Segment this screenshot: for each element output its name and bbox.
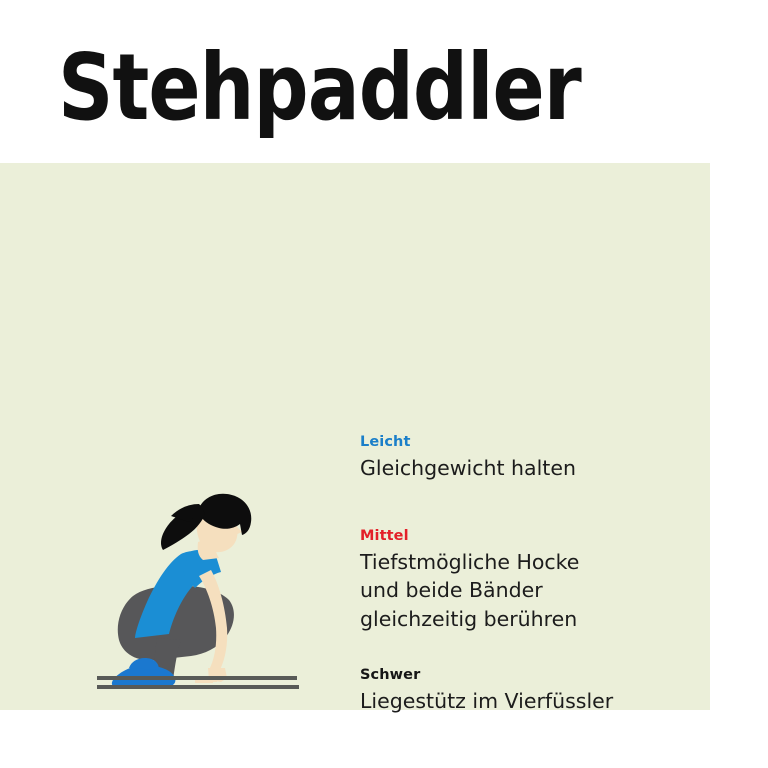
- level-mittel-line-2: und beide Bänder: [360, 576, 660, 605]
- level-mittel-line-1: Tiefstmögliche Hocke: [360, 548, 660, 577]
- level-leicht-label: Leicht: [360, 433, 660, 451]
- level-mittel-description: Tiefstmögliche Hocke und beide Bänder gl…: [360, 548, 660, 634]
- level-mittel-label: Mittel: [360, 527, 660, 545]
- level-schwer-line-1: Liegestütz im Vierfüssler: [360, 687, 660, 716]
- content-panel: Leicht Gleichgewicht halten Mittel Tiefs…: [0, 163, 710, 710]
- level-leicht-line-1: Gleichgewicht halten: [360, 454, 660, 483]
- infographic-page: Stehpaddler: [0, 0, 768, 768]
- level-leicht-description: Gleichgewicht halten: [360, 454, 660, 483]
- level-mittel-line-3: gleichzeitig berühren: [360, 605, 660, 634]
- level-leicht: Leicht Gleichgewicht halten: [360, 433, 660, 483]
- floor-band-upper: [97, 676, 297, 680]
- floor-band-lower: [97, 685, 299, 689]
- page-title: Stehpaddler: [58, 38, 672, 138]
- exercise-illustration: [85, 488, 305, 703]
- level-mittel: Mittel Tiefstmögliche Hocke und beide Bä…: [360, 527, 660, 634]
- difficulty-levels: Leicht Gleichgewicht halten Mittel Tiefs…: [360, 433, 660, 716]
- level-schwer-description: Liegestütz im Vierfüssler: [360, 687, 660, 716]
- level-schwer-label: Schwer: [360, 666, 660, 684]
- level-schwer: Schwer Liegestütz im Vierfüssler: [360, 666, 660, 716]
